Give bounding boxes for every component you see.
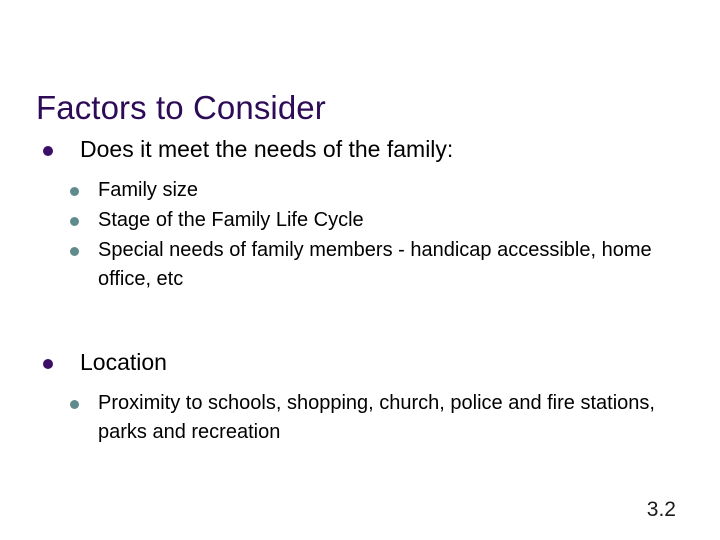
level1-bullet-text: Location [80,347,696,377]
level1-bullet-item: Does it meet the needs of the family: [36,134,696,164]
page-title: Factors to Consider [36,88,326,128]
level2-bullet-list-2: Proximity to schools, shopping, church, … [36,389,696,447]
level2-bullet-text: Special needs of family members - handic… [98,236,696,294]
sub-bullet-point-icon [70,217,79,226]
level2-bullet-item: Proximity to schools, shopping, church, … [36,389,696,447]
level2-bullet-text: Family size [98,176,696,205]
bullet-block-2: Location Proximity to schools, shopping,… [36,347,696,447]
level1-bullet-text: Does it meet the needs of the family: [80,134,696,164]
level2-bullet-text: Stage of the Family Life Cycle [98,206,696,235]
sub-bullet-point-icon [70,187,79,196]
level1-bullet-item: Location [36,347,696,377]
level2-bullet-item: Family size [36,176,696,205]
bullet-block-1: Does it meet the needs of the family: Fa… [36,134,696,294]
level2-bullet-text: Proximity to schools, shopping, church, … [98,389,696,447]
bullet-point-icon [43,146,53,156]
slide-page-number: 3.2 [647,498,676,522]
sub-bullet-point-icon [70,400,79,409]
level2-bullet-item: Special needs of family members - handic… [36,236,696,294]
sub-bullet-point-icon [70,247,79,256]
level2-bullet-item: Stage of the Family Life Cycle [36,206,696,235]
slide-body: Does it meet the needs of the family: Fa… [36,134,696,448]
level2-bullet-list-1: Family size Stage of the Family Life Cyc… [36,176,696,294]
presentation-slide: Factors to Consider Does it meet the nee… [0,0,720,540]
bullet-point-icon [43,359,53,369]
